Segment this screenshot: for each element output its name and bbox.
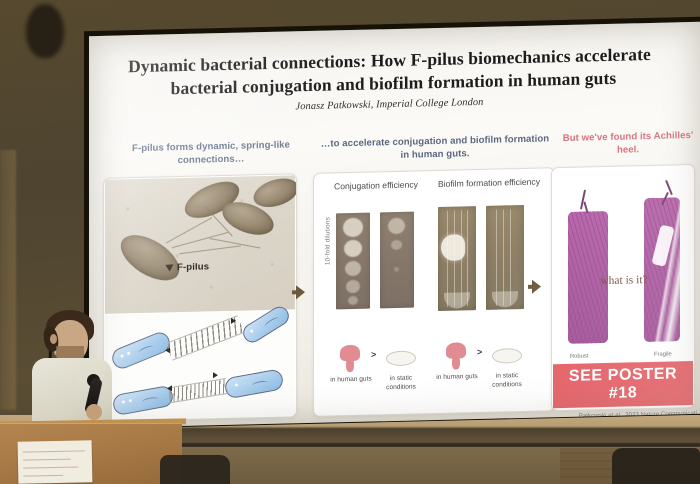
cell-dot — [129, 399, 132, 402]
force-arrow-icon — [231, 318, 236, 324]
comparison-label-a: in human guts — [434, 373, 480, 383]
cell-dot — [127, 351, 131, 355]
pilus-spring-compressed — [168, 378, 228, 403]
sign-text-line — [23, 467, 78, 470]
pilus-structure-fragile — [644, 197, 680, 342]
colony-spot — [388, 218, 405, 234]
cell-plasmid — [138, 344, 155, 356]
wall-dark-patch — [26, 4, 64, 58]
cell-plasmid — [264, 316, 281, 330]
colony-spot — [345, 261, 361, 276]
petri-dish-icon — [492, 348, 522, 364]
pilus-caption-fragile: Fragile — [654, 351, 672, 357]
force-arrow-icon — [213, 372, 218, 378]
comparison-label-b: in static conditions — [484, 372, 530, 390]
column-header-mid: …to accelerate conjugation and biofilm f… — [317, 133, 553, 164]
sign-text-line — [23, 450, 85, 453]
colony-spot — [391, 240, 402, 250]
cell-dot — [250, 329, 254, 333]
see-poster-banner: SEE POSTER #18 — [553, 361, 693, 408]
gut-shape — [452, 355, 460, 369]
colony-spot — [343, 218, 363, 237]
colony-spot — [344, 240, 362, 257]
comparison-label-a: in human guts — [328, 375, 374, 385]
flow-arrow-icon — [532, 280, 541, 294]
sign-text-line — [23, 459, 71, 461]
poster-banner-line-2: #18 — [609, 384, 638, 402]
electron-micrograph-image: F-pilus — [105, 175, 295, 313]
column-header-left: F-pilus forms dynamic, spring-like conne… — [113, 139, 309, 169]
colony-spot — [394, 267, 399, 272]
podium-sign — [18, 440, 93, 484]
force-arrow-icon — [167, 385, 172, 391]
comparison-label-b: in static conditions — [378, 374, 424, 392]
comparison-conjugation: > in human guts in static conditions — [328, 343, 426, 345]
column-header-right: But we've found its Achilles' heel. — [559, 130, 697, 159]
screenshot-root: Dynamic bacterial connections: How F-pil… — [0, 0, 700, 484]
agar-strip-static-conditions — [380, 212, 414, 309]
audience-chair — [160, 455, 230, 484]
presenter-hand — [86, 404, 102, 420]
cell-plasmid — [142, 396, 159, 405]
conjugation-chart-title: Conjugation efficiency — [328, 179, 424, 193]
presenter — [14, 300, 126, 428]
dilution-axis-label: 10-fold dilutions — [325, 208, 332, 274]
presenter-ear — [50, 334, 57, 344]
micrograph-label: F-pilus — [177, 261, 209, 273]
cell-dot — [235, 383, 238, 386]
what-is-it-question: what is it? — [582, 274, 666, 288]
panel-f-pilus-micrograph: F-pilus — [103, 173, 297, 422]
flow-arrow-icon — [296, 285, 305, 299]
cell-plasmid — [252, 380, 269, 389]
presentation-slide: Dynamic bacterial connections: How F-pil… — [89, 22, 700, 428]
spring-connection-schematic — [105, 310, 295, 419]
colony-spot — [346, 280, 360, 293]
gut-icon — [444, 342, 468, 371]
petri-dish-icon — [386, 350, 416, 366]
colony-spot — [348, 296, 358, 305]
sign-text-line — [23, 475, 63, 477]
greater-than-symbol: > — [477, 347, 482, 357]
comparison-biofilm: > in human guts in static conditions — [434, 341, 538, 343]
poster-banner-line-1: SEE POSTER — [569, 366, 677, 385]
panel-pilus-structure: what is it? Robust Fragile SEE POSTER #1… — [551, 164, 695, 411]
gut-shape — [346, 358, 354, 372]
slide-title-block: Dynamic bacterial connections: How F-pil… — [89, 42, 690, 117]
biofilm-chart-title: Biofilm formation efficiency — [436, 177, 542, 191]
biofilm-tube-static-conditions — [486, 205, 524, 310]
agar-strip-human-guts — [336, 213, 370, 310]
greater-than-symbol: > — [371, 349, 376, 359]
force-arrow-icon — [165, 347, 170, 353]
panel-efficiency-results: Conjugation efficiency Biofilm formation… — [313, 167, 555, 417]
biofilm-tube-human-guts — [438, 206, 476, 311]
pilus-caption-robust: Robust — [570, 353, 588, 359]
biofilm-mass — [441, 234, 465, 261]
schematic-bacterium — [224, 368, 285, 399]
audience-chair — [612, 448, 700, 484]
gut-icon — [338, 345, 362, 374]
